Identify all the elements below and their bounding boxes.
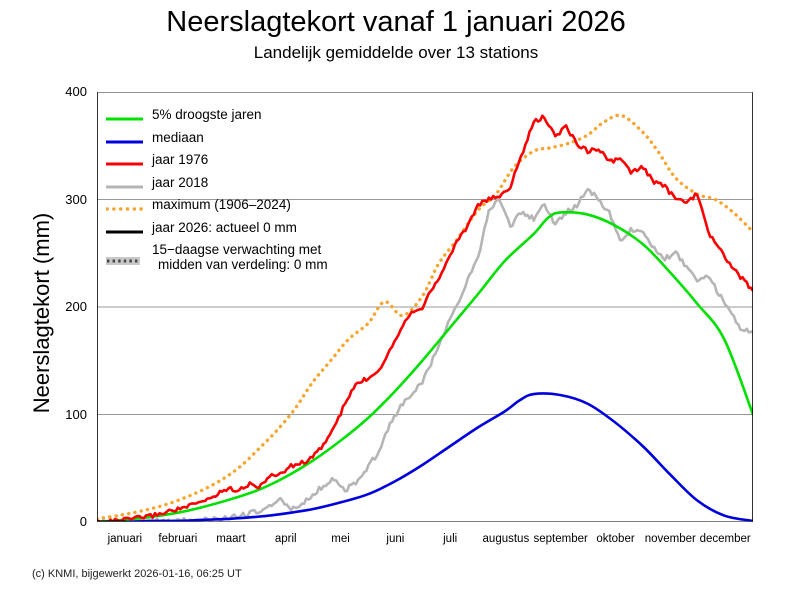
legend-item: maximum (1906–2024) <box>106 198 346 221</box>
chart-title: Neerslagtekort vanaf 1 januari 2026 <box>0 6 792 39</box>
legend-label: 15−daagse verwachting met <box>152 243 321 257</box>
legend-label: jaar 2018 <box>152 176 208 190</box>
chart-legend: 5% droogste jarenmediaanjaar 1976jaar 20… <box>106 108 346 279</box>
y-tick-label: 400 <box>41 84 87 99</box>
legend-swatch <box>106 135 144 149</box>
legend-item: jaar 2018 <box>106 176 346 199</box>
legend-item: 15−daagse verwachting metmidden van verd… <box>106 243 346 279</box>
y-tick-label: 300 <box>41 192 87 207</box>
legend-item: jaar 1976 <box>106 153 346 176</box>
legend-label-line2: midden van verdeling: 0 mm <box>158 258 328 272</box>
legend-label: maximum (1906–2024) <box>152 198 291 212</box>
legend-label: mediaan <box>152 131 204 145</box>
legend-swatch <box>106 202 144 216</box>
legend-label: 5% droogste jaren <box>152 108 262 122</box>
chart-subtitle: Landelijk gemiddelde over 13 stations <box>0 43 792 63</box>
x-tick-label-december: december <box>680 533 770 545</box>
legend-label: jaar 1976 <box>152 153 208 167</box>
legend-item: jaar 2026: actueel 0 mm <box>106 221 346 244</box>
y-tick-label: 100 <box>41 407 87 422</box>
chart-page: Neerslagtekort vanaf 1 januari 2026 Land… <box>0 0 792 612</box>
legend-label: jaar 2026: actueel 0 mm <box>152 221 297 235</box>
legend-swatch <box>106 254 144 268</box>
y-tick-label: 0 <box>41 514 87 529</box>
legend-item: mediaan <box>106 131 346 154</box>
legend-swatch <box>106 157 144 171</box>
legend-swatch <box>106 180 144 194</box>
legend-swatch <box>106 225 144 239</box>
chart-footer: (c) KNMI, bijgewerkt 2026-01-16, 06:25 U… <box>32 568 242 580</box>
legend-item: 5% droogste jaren <box>106 108 346 131</box>
y-tick-label: 200 <box>41 299 87 314</box>
legend-swatch <box>106 112 144 126</box>
